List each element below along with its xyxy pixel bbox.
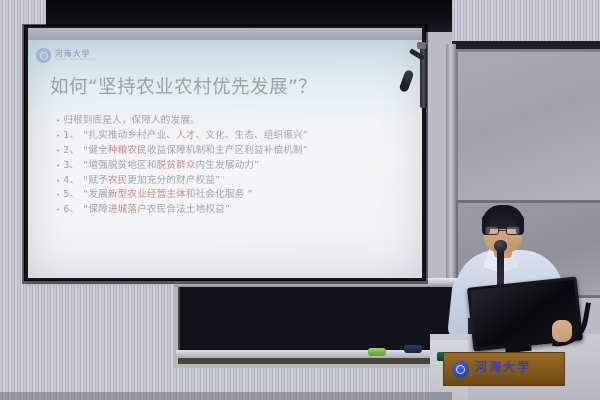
- slide-logo-text: 河海大学 HOHAI UNIVERSITY: [55, 50, 94, 62]
- lens-right: [506, 226, 520, 235]
- bullet-text: 归根到底是人，保障人的发展。: [63, 116, 199, 126]
- slide-bullet-3: •2、“健全种粮农民收益保障机制和主产区利益补偿机制”: [56, 146, 396, 156]
- bullet-dot-icon: •: [56, 133, 60, 140]
- slide-bullet-list: •归根到底是人，保障人的发展。•1、“扎实推动乡村产业、人才、文化、生态、组织振…: [56, 116, 396, 220]
- slide-bullet-2: •1、“扎实推动乡村产业、人才、文化、生态、组织振兴”: [56, 131, 396, 141]
- right-whiteboard-upper: [455, 49, 600, 203]
- eyeglasses-icon: [485, 226, 521, 235]
- bullet-text: “发展: [83, 190, 108, 200]
- bullet-dot-icon: •: [56, 207, 60, 214]
- bullet-dot-icon: •: [56, 192, 60, 199]
- slide-title: 如何“坚持农业农村优先发展”？: [50, 73, 317, 99]
- bullet-highlight-text: 农民: [108, 176, 128, 186]
- bullet-text: 和社会化服务 ”: [186, 190, 253, 200]
- bullet-text: “保障: [83, 205, 108, 215]
- slide-bullet-1: •归根到底是人，保障人的发展。: [56, 116, 396, 126]
- bullet-text: “增强脱贫地区和: [83, 161, 156, 171]
- bullet-highlight-text: 人才: [176, 131, 196, 141]
- slide-bullet-6: •5、“发展新型农业经营主体和社会化服务 ”: [56, 190, 396, 200]
- bullet-dot-icon: •: [56, 163, 60, 170]
- bullet-text: “赋予: [83, 176, 108, 186]
- bullet-number: 5、: [63, 190, 83, 200]
- bullet-dot-icon: •: [56, 178, 60, 185]
- bullet-text: 农民合法土地权益”: [147, 205, 230, 215]
- podium-nameplate-cn: 河海大学: [475, 361, 531, 373]
- hohai-university-emblem-icon: [36, 48, 51, 63]
- podium-hohai-emblem-icon: [452, 361, 469, 378]
- bullet-text: 更加充分的财产权益”: [127, 176, 220, 186]
- floor-shadow: [0, 392, 452, 400]
- bullet-dot-icon: •: [56, 118, 60, 125]
- slide-logo: 河海大学 HOHAI UNIVERSITY: [36, 48, 94, 63]
- green-marker: [368, 348, 386, 356]
- podium-nameplate-text: 河海大学 HOHAI UNIVERSITY: [475, 361, 531, 378]
- bullet-number: 3、: [63, 161, 83, 171]
- glasses-bridge: [499, 230, 506, 231]
- bullet-dot-icon: •: [56, 148, 60, 155]
- slide-logo-en: HOHAI UNIVERSITY: [55, 59, 94, 62]
- slide-bullet-5: •4、“赋予农民更加充分的财产权益”: [56, 176, 396, 186]
- projection-screen: 河海大学 HOHAI UNIVERSITY 如何“坚持农业农村优先发展”？ •归…: [28, 40, 422, 278]
- presenter-hand: [552, 320, 572, 342]
- lens-left: [485, 226, 499, 235]
- bullet-text: “扎实推动乡村产业、: [83, 131, 176, 141]
- bullet-highlight-text: 脱贫群众: [157, 161, 196, 171]
- podium-nameplate-en: HOHAI UNIVERSITY: [475, 375, 531, 378]
- bullet-number: 6、: [63, 205, 83, 215]
- slide-bullet-4: •3、“增强脱贫地区和脱贫群众内生发展动力”: [56, 161, 396, 171]
- bullet-highlight-text: 进城落户: [108, 205, 147, 215]
- wall-panel-right-top: [452, 0, 600, 44]
- wall-post: [446, 44, 456, 294]
- bullet-number: 4、: [63, 176, 83, 186]
- blue-marker: [404, 345, 422, 353]
- bullet-text: 、文化、生态、组织振兴”: [196, 131, 308, 141]
- boom-microphone-clip: [417, 42, 426, 49]
- bullet-text: 收益保障机制和主产区利益补偿机制”: [147, 146, 308, 156]
- bullet-number: 1、: [63, 131, 83, 141]
- projection-screen-roller: [28, 28, 422, 40]
- bullet-text: 内生发展动力”: [196, 161, 260, 171]
- bullet-highlight-text: 新型农业经营主体: [108, 190, 186, 200]
- slide-bullet-7: •6、“保障进城落户农民合法土地权益”: [56, 205, 396, 215]
- lecture-hall-photo: 河海大学 HOHAI UNIVERSITY 如何“坚持农业农村优先发展”？ •归…: [0, 0, 600, 400]
- monitor-stand: [504, 337, 531, 354]
- bullet-number: 2、: [63, 146, 83, 156]
- right-wall-band: [452, 41, 600, 49]
- slide-logo-cn: 河海大学: [55, 50, 94, 58]
- handheld-microphone-icon: [494, 240, 507, 252]
- bullet-highlight-text: 种粮农民: [108, 146, 147, 156]
- bullet-text: “健全: [83, 146, 108, 156]
- podium-nameplate: 河海大学 HOHAI UNIVERSITY: [443, 352, 565, 386]
